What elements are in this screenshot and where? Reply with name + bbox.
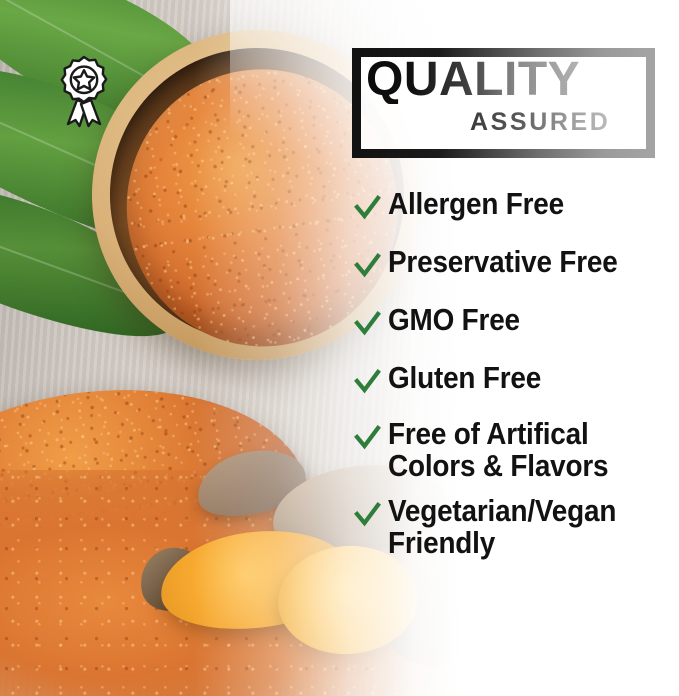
- green-check-icon: [352, 368, 382, 398]
- list-item-label: Gluten Free: [388, 362, 541, 394]
- assured-subtitle: ASSURED: [470, 110, 610, 135]
- list-item-label: Allergen Free: [388, 188, 564, 220]
- green-check-icon: [352, 194, 382, 224]
- green-check-icon: [352, 252, 382, 282]
- list-item: Preservative Free: [352, 246, 679, 282]
- list-item-label: Vegetarian/Vegan Friendly: [388, 495, 616, 558]
- list-item-label: Free of Artifical Colors & Flavors: [388, 418, 608, 481]
- green-check-icon: [352, 501, 382, 531]
- quality-title: QUALITY: [366, 56, 580, 104]
- green-check-icon: [352, 424, 382, 454]
- list-item: Free of Artifical Colors & Flavors: [352, 418, 679, 481]
- rosette-star-seal-icon: [53, 54, 115, 130]
- green-check-icon: [352, 310, 382, 340]
- quality-assured-badge: QUALITY ASSURED: [352, 48, 655, 158]
- list-item: GMO Free: [352, 304, 679, 340]
- list-item-label: Preservative Free: [388, 246, 618, 278]
- product-infographic: QUALITY ASSURED Allergen Free Preservati…: [0, 0, 679, 696]
- list-item-label: GMO Free: [388, 304, 520, 336]
- list-item: Gluten Free: [352, 362, 679, 398]
- list-item: Allergen Free: [352, 188, 679, 224]
- feature-list: Allergen Free Preservative Free GMO Free…: [352, 188, 679, 574]
- list-item: Vegetarian/Vegan Friendly: [352, 495, 679, 558]
